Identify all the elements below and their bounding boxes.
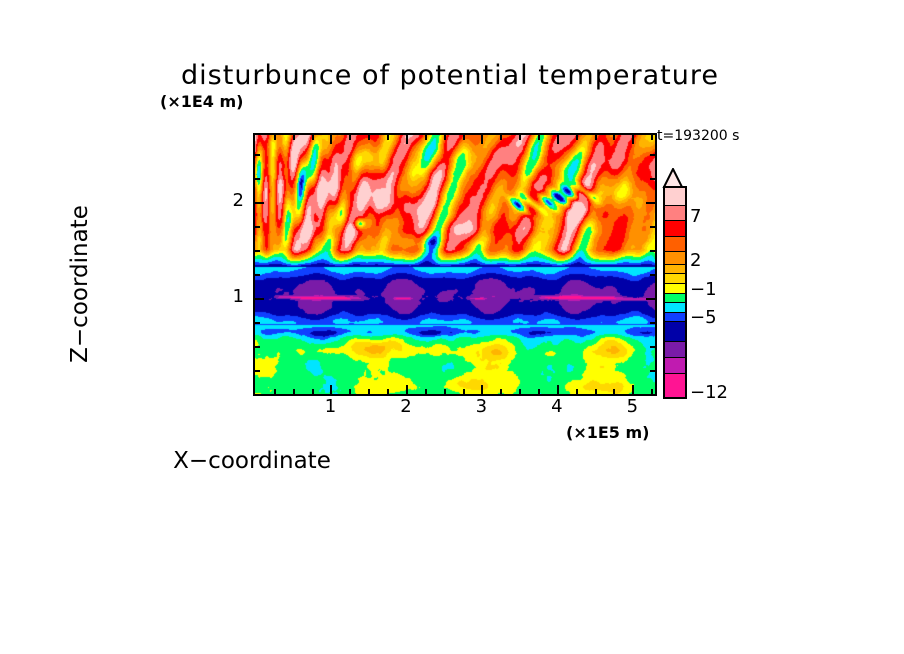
y-minor-tick-right <box>650 370 655 372</box>
x-minor-tick <box>387 389 389 394</box>
y-minor-tick-right <box>650 226 655 228</box>
y-major-tick <box>255 202 264 204</box>
x-axis-title: X−coordinate <box>0 448 904 474</box>
chart-title-text: disturbunce of potential temperature <box>181 60 719 91</box>
x-major-tick <box>557 385 559 394</box>
x-minor-tick-top <box>538 135 540 140</box>
colorbar-tick-label: 7 <box>690 206 701 227</box>
y-minor-tick <box>255 178 260 180</box>
x-minor-tick-top <box>312 135 314 140</box>
x-minor-tick <box>312 389 314 394</box>
colorbar-band <box>665 284 685 294</box>
colorbar-band <box>665 322 685 341</box>
y-minor-tick <box>255 322 260 324</box>
x-minor-tick-top <box>595 135 597 140</box>
contour-plot-area <box>253 133 657 396</box>
y-tick-label: 1 <box>222 286 244 307</box>
x-minor-tick-top <box>425 135 427 140</box>
x-minor-tick <box>519 389 521 394</box>
x-major-tick <box>632 385 634 394</box>
x-major-tick-top <box>557 135 559 144</box>
colorbar-band <box>665 237 685 253</box>
colorbar-band <box>665 265 685 275</box>
figure-canvas: disturbunce of potential temperature (×1… <box>0 0 904 654</box>
y-minor-tick <box>255 154 260 156</box>
y-major-tick-right <box>646 202 655 204</box>
colorbar-band <box>665 206 685 222</box>
x-minor-tick-top <box>387 135 389 140</box>
colorbar-band <box>665 294 685 304</box>
x-minor-tick <box>444 389 446 394</box>
x-minor-tick <box>349 389 351 394</box>
x-minor-tick <box>368 389 370 394</box>
x-major-tick <box>406 385 408 394</box>
x-minor-tick <box>463 389 465 394</box>
x-tick-label: 4 <box>537 396 577 417</box>
y-minor-tick <box>255 250 260 252</box>
x-minor-tick <box>293 389 295 394</box>
y-axis-unit-label: (×1E4 m) <box>160 92 243 111</box>
x-minor-tick-top <box>613 135 615 140</box>
contour-field <box>255 135 655 394</box>
colorbar-tick-label: −12 <box>690 382 728 403</box>
x-tick-label: 1 <box>310 396 350 417</box>
y-minor-tick <box>255 226 260 228</box>
y-minor-tick-right <box>650 322 655 324</box>
x-minor-tick <box>538 389 540 394</box>
x-minor-tick-top <box>519 135 521 140</box>
colorbar-arrow-icon <box>661 168 685 188</box>
colorbar-tick-label: −1 <box>690 279 717 300</box>
colorbar-band <box>665 342 685 358</box>
x-minor-tick <box>274 389 276 394</box>
y-minor-tick-right <box>650 250 655 252</box>
colorbar-tick-label: −5 <box>690 307 717 328</box>
y-axis-title-text: Z−coordinate <box>67 205 93 363</box>
y-major-tick-right <box>646 298 655 300</box>
colorbar <box>663 186 687 399</box>
x-minor-tick-top <box>349 135 351 140</box>
y-minor-tick-right <box>650 346 655 348</box>
x-minor-tick-top <box>368 135 370 140</box>
x-minor-tick-top <box>500 135 502 140</box>
y-minor-tick-right <box>650 154 655 156</box>
x-major-tick-top <box>406 135 408 144</box>
x-minor-tick-top <box>444 135 446 140</box>
colorbar-band <box>665 252 685 264</box>
colorbar-tick-label: 2 <box>690 250 701 271</box>
y-minor-tick <box>255 370 260 372</box>
colorbar-band <box>665 313 685 323</box>
y-major-tick <box>255 298 264 300</box>
x-tick-label: 5 <box>612 396 652 417</box>
x-minor-tick <box>613 389 615 394</box>
x-axis-unit-label: (×1E5 m) <box>566 423 649 442</box>
chart-title: disturbunce of potential temperature <box>0 60 904 91</box>
x-minor-tick <box>500 389 502 394</box>
x-minor-tick-top <box>651 135 653 140</box>
colorbar-band <box>665 374 685 397</box>
y-minor-tick <box>255 274 260 276</box>
x-tick-label: 3 <box>461 396 501 417</box>
x-minor-tick <box>651 389 653 394</box>
x-minor-tick-top <box>576 135 578 140</box>
x-minor-tick-top <box>463 135 465 140</box>
colorbar-band <box>665 274 685 284</box>
y-axis-title: Z−coordinate <box>67 148 93 428</box>
x-minor-tick-top <box>293 135 295 140</box>
x-minor-tick <box>576 389 578 394</box>
x-major-tick-top <box>481 135 483 144</box>
colorbar-band <box>665 188 685 206</box>
x-axis-title-text: X−coordinate <box>173 448 331 474</box>
colorbar-band <box>665 221 685 237</box>
colorbar-band <box>665 303 685 313</box>
x-minor-tick <box>425 389 427 394</box>
x-major-tick-top <box>330 135 332 144</box>
y-minor-tick <box>255 346 260 348</box>
x-major-tick <box>481 385 483 394</box>
x-major-tick-top <box>632 135 634 144</box>
x-tick-label: 2 <box>386 396 426 417</box>
x-minor-tick <box>595 389 597 394</box>
colorbar-band <box>665 358 685 374</box>
x-major-tick <box>330 385 332 394</box>
y-minor-tick-right <box>650 274 655 276</box>
y-tick-label: 2 <box>222 190 244 211</box>
y-minor-tick-right <box>650 178 655 180</box>
time-label: t=193200 s <box>657 128 739 144</box>
x-minor-tick-top <box>274 135 276 140</box>
